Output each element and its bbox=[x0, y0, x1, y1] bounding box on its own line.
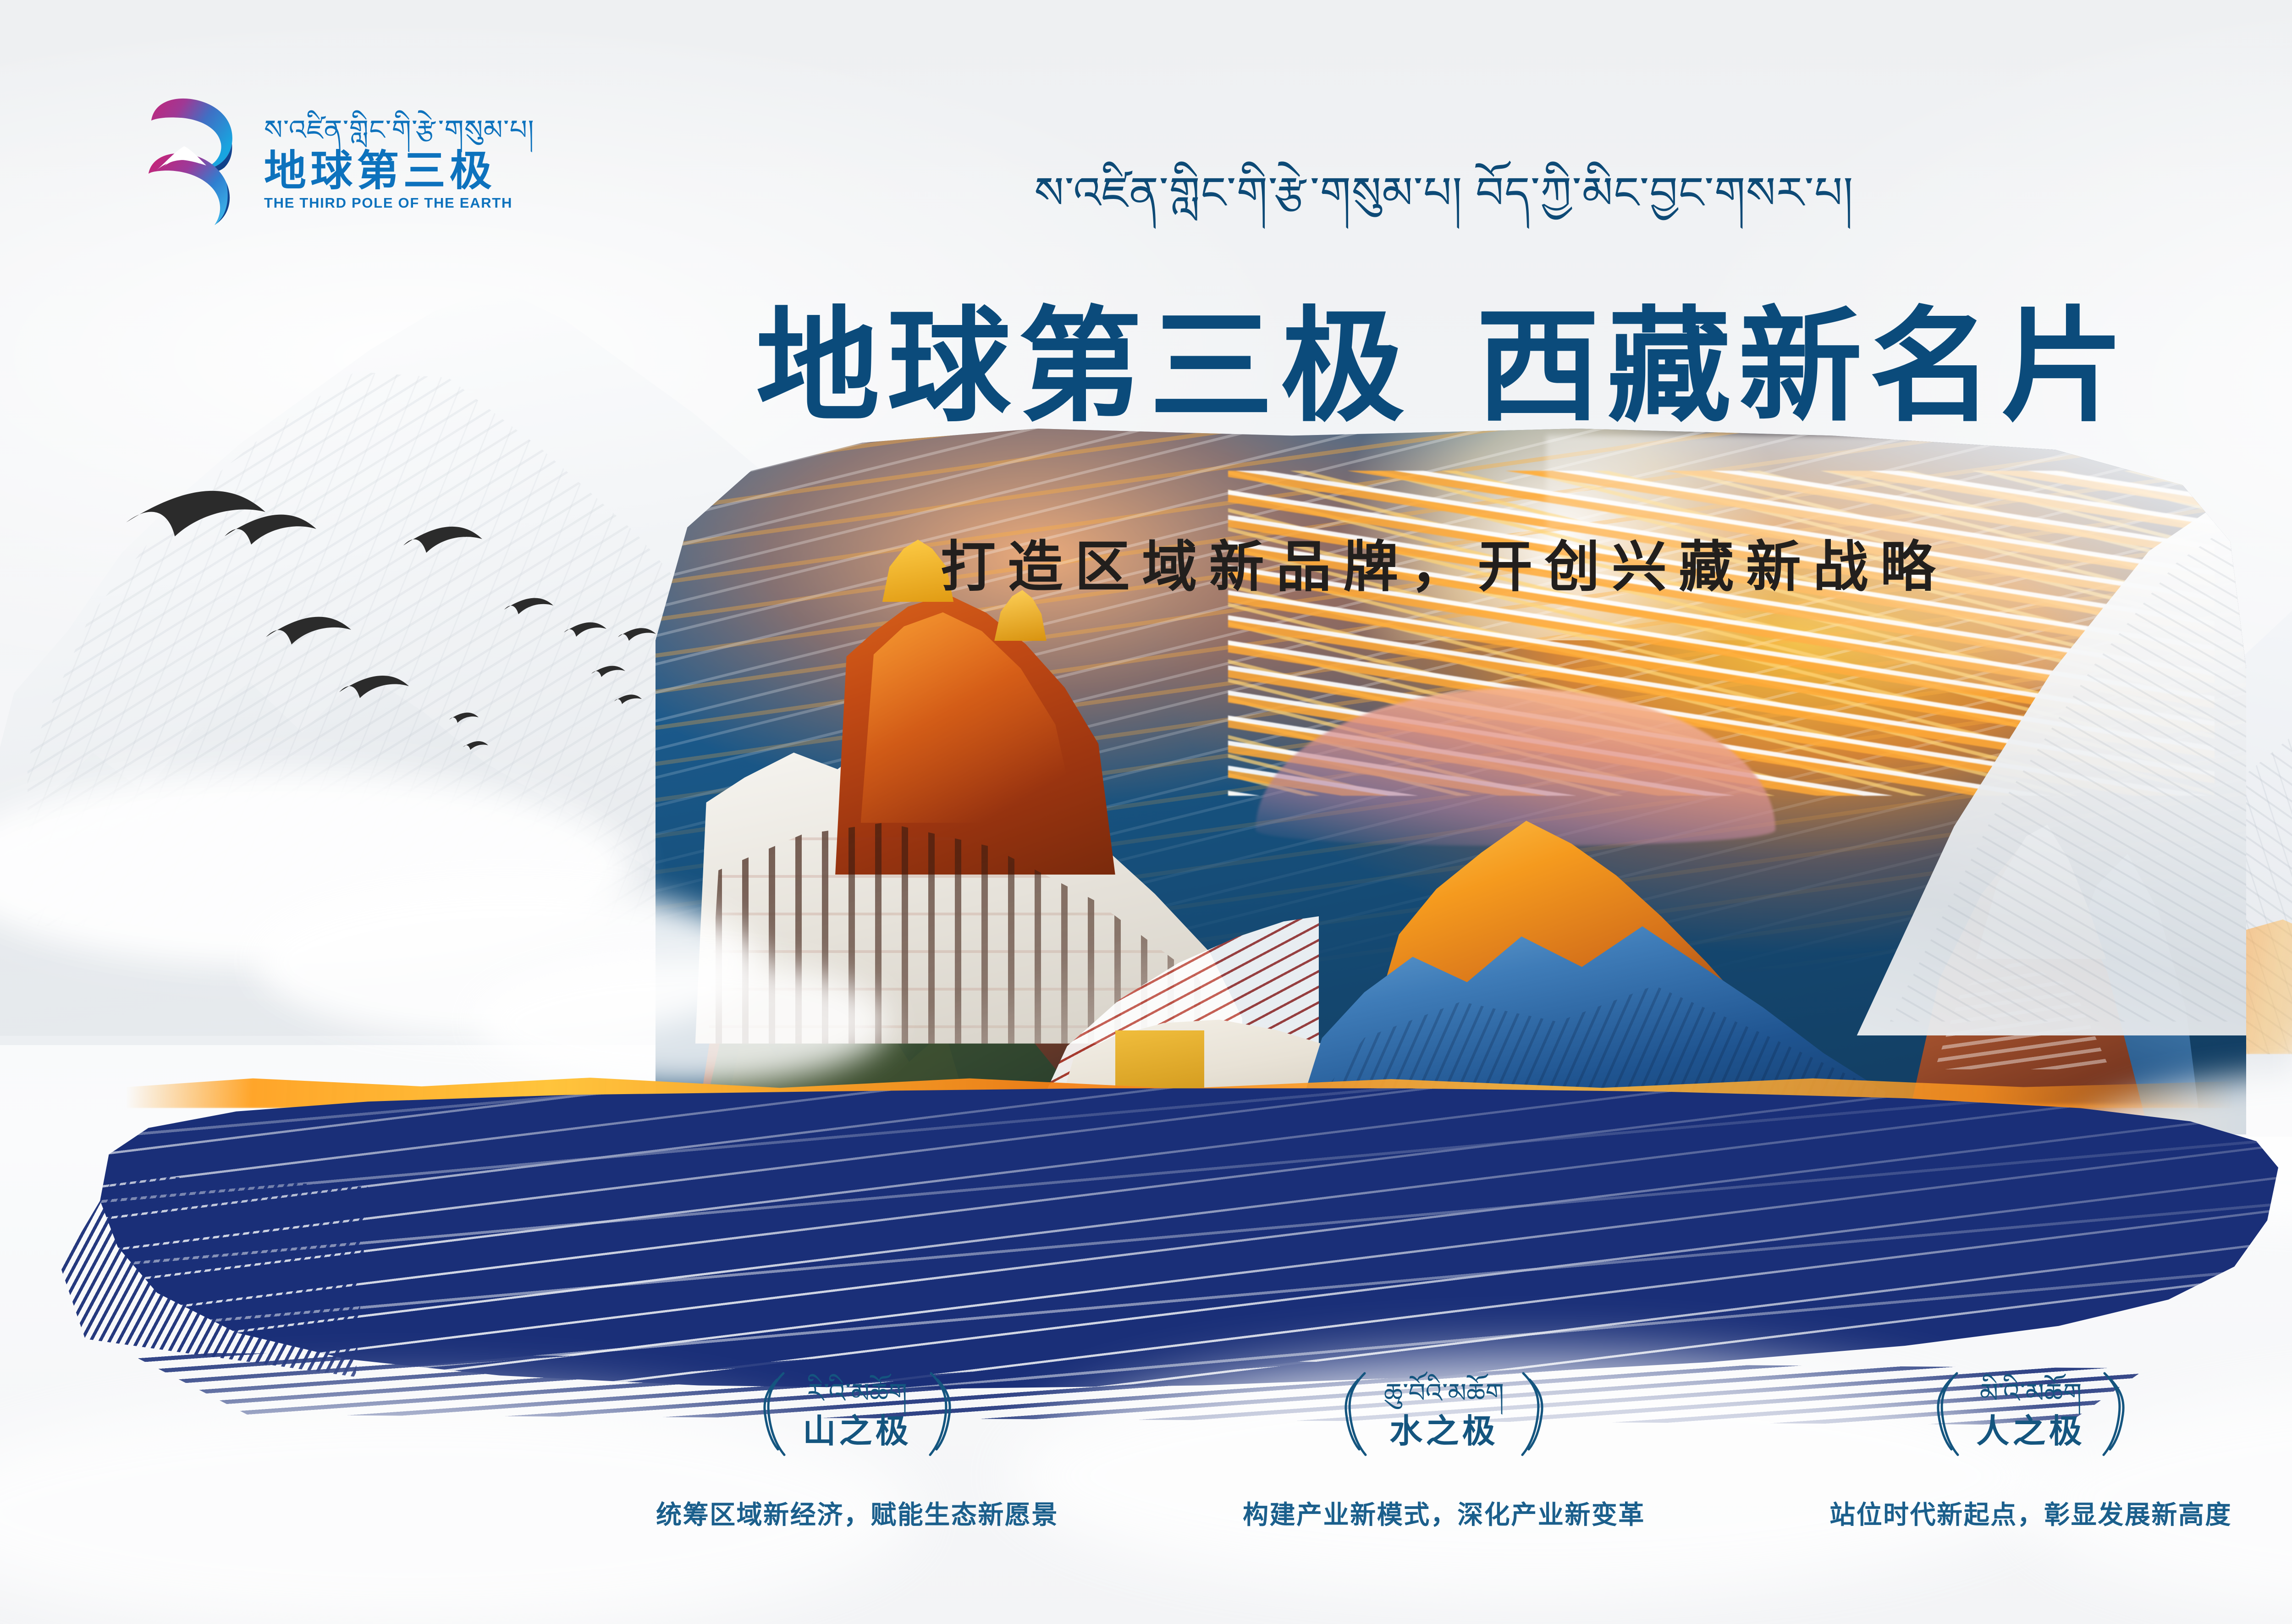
pillar-item[interactable]: ཆུ་བོའི་མཆོག 水之极 构建产业新模式，深化产业新变革 bbox=[1238, 1371, 1650, 1531]
pillar-item[interactable]: རི་འི་མཆོག 山之极 统筹区域新经济，赋能生态新愿景 bbox=[651, 1371, 1063, 1531]
pillar-description: 站位时代新起点，彰显发展新高度 bbox=[1824, 1494, 2237, 1531]
page-subtitle: 打造区域新品牌，开创兴藏新战略 bbox=[0, 534, 2292, 600]
pillar-description: 统筹区域新经济，赋能生态新愿景 bbox=[651, 1494, 1063, 1531]
pillar-heading: རི་འི་མཆོག 山之极 bbox=[651, 1371, 1063, 1458]
pillar-tibetan: ཆུ་བོའི་མཆོག bbox=[1384, 1377, 1504, 1409]
bracket-left-icon bbox=[757, 1371, 791, 1458]
pillar-description: 构建产业新模式，深化产业新变革 bbox=[1238, 1494, 1650, 1531]
pillar-label-group: མི་འི་མཆོག 人之极 bbox=[1976, 1377, 2085, 1451]
pillar-label-group: རི་འི་མཆོག 山之极 bbox=[803, 1377, 912, 1451]
headline-tibetan: ས་འཛིན་གླིང་གི་རྩེ་གསུམ་པ། བོད་ཀྱི་མིང་བ… bbox=[0, 161, 2292, 225]
pillar-label-group: ཆུ་བོའི་མཆོག 水之极 bbox=[1384, 1377, 1504, 1451]
navy-ink-brush-stroke bbox=[83, 1082, 2278, 1412]
bracket-right-icon bbox=[1516, 1371, 1550, 1458]
pillar-heading: ཆུ་བོའི་མཆོག 水之极 bbox=[1238, 1371, 1650, 1458]
pillar-chinese: 山之极 bbox=[803, 1413, 912, 1451]
pillar-item[interactable]: མི་འི་མཆོག 人之极 站位时代新起点，彰显发展新高度 bbox=[1824, 1371, 2237, 1531]
bracket-right-icon bbox=[2097, 1371, 2131, 1458]
pillar-tibetan: མི་འི་མཆོག bbox=[1980, 1377, 2082, 1409]
poster-canvas: ས་འཛིན་གླིང་གི་རྩེ་གསུམ་པ། 地球第三极 THE THI… bbox=[0, 0, 2292, 1624]
cloud-wisp bbox=[477, 958, 889, 1086]
pillars-row: རི་འི་མཆོག 山之极 统筹区域新经济，赋能生态新愿景 bbox=[0, 1371, 2292, 1531]
pillar-tibetan: རི་འི་མཆོག bbox=[807, 1377, 907, 1409]
pillar-chinese: 人之极 bbox=[1976, 1413, 2085, 1451]
everest-lenticular-cloud bbox=[1256, 688, 1775, 846]
pillar-chinese: 水之极 bbox=[1389, 1413, 1499, 1451]
title-part-two: 西藏新名片 bbox=[1476, 298, 2132, 436]
bracket-right-icon bbox=[924, 1371, 958, 1458]
bracket-left-icon bbox=[1930, 1371, 1964, 1458]
mount-everest-illustration bbox=[1292, 697, 1896, 1134]
bracket-left-icon bbox=[1338, 1371, 1372, 1458]
page-title: 地球第三极西藏新名片 bbox=[0, 298, 2292, 436]
title-part-one: 地球第三极 bbox=[756, 298, 1412, 436]
pillar-heading: མི་འི་མཆོག 人之极 bbox=[1824, 1371, 2237, 1458]
logo-tibetan-name: ས་འཛིན་གླིང་གི་རྩེ་གསུམ་པ། bbox=[264, 113, 534, 147]
